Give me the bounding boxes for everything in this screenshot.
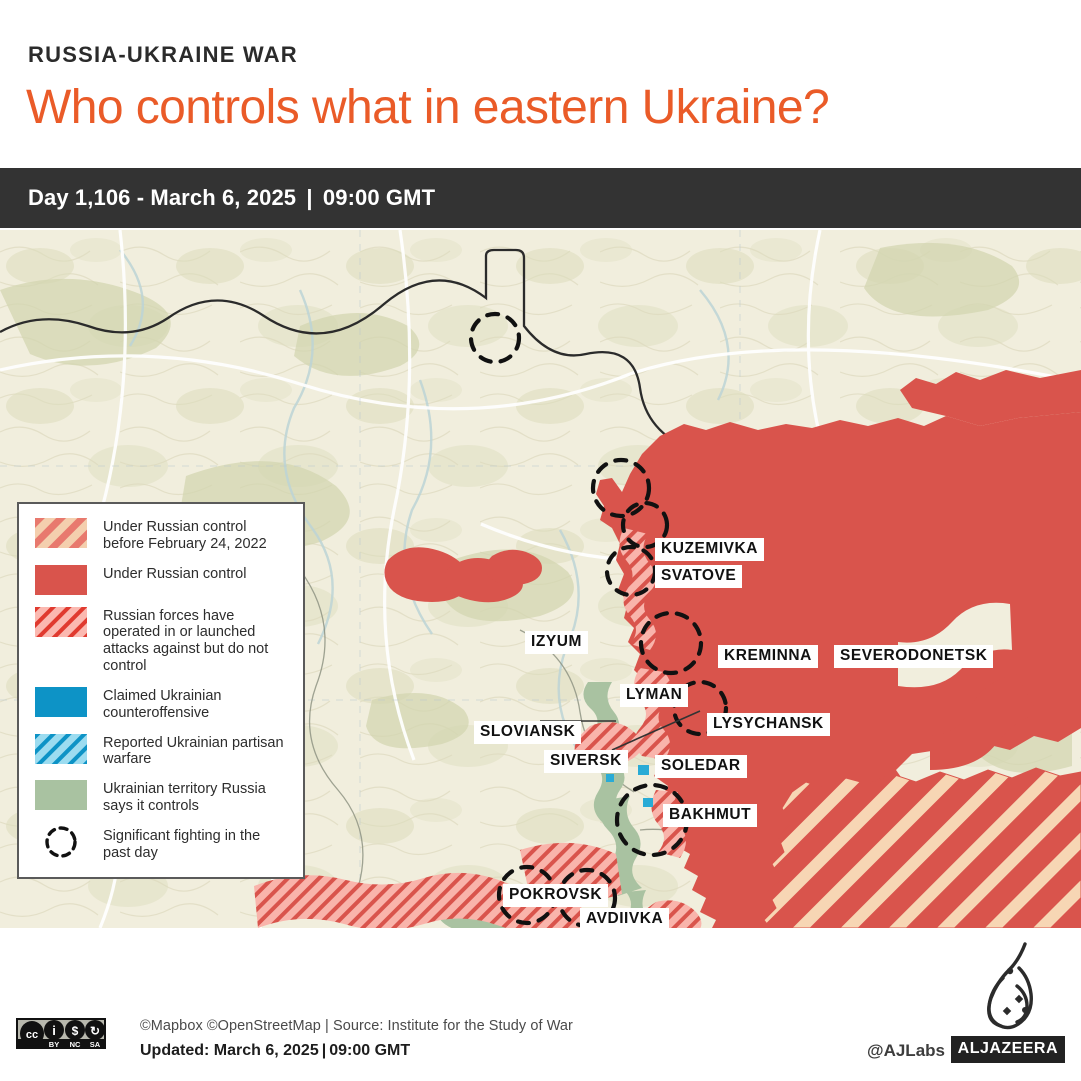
- infographic-root: RUSSIA-UKRAINE WAR Who controls what in …: [0, 0, 1081, 1081]
- svg-text:cc: cc: [26, 1029, 38, 1041]
- date-separator: |: [302, 185, 316, 210]
- legend-item-ukrainian-claimed: Ukrainian territory Russia says it contr…: [35, 780, 291, 815]
- date-time: 09:00 GMT: [323, 185, 435, 210]
- svg-text:SA: SA: [90, 1040, 101, 1049]
- legend-label-ukrainian-claimed: Ukrainian territory Russia says it contr…: [103, 780, 291, 815]
- legend-label-pre-2022: Under Russian control before February 24…: [103, 518, 291, 553]
- legend-label-partisan-warfare: Reported Ukrainian partisan warfare: [103, 734, 291, 769]
- legend-item-counteroffensive: Claimed Ukrainian counteroffensive: [35, 687, 291, 722]
- updated-date: Updated: March 6, 2025: [140, 1042, 319, 1059]
- legend-swatch-solid-blue: [35, 687, 87, 717]
- creative-commons-icon[interactable]: cc i $ ↻ BY NC SA: [16, 1018, 106, 1049]
- city-label-kreminna[interactable]: KREMINNA: [718, 645, 818, 668]
- city-label-sloviansk[interactable]: SLOVIANSK: [474, 721, 581, 744]
- kicker-label: RUSSIA-UKRAINE WAR: [28, 42, 298, 68]
- date-bar: Day 1,106 - March 6, 2025 | 09:00 GMT: [0, 168, 1081, 228]
- map-attribution: ©Mapbox ©OpenStreetMap | Source: Institu…: [140, 1018, 573, 1034]
- day-counter: Day 1,106 - March 6, 2025: [28, 185, 296, 210]
- legend-item-pre-2022: Under Russian control before February 24…: [35, 518, 291, 553]
- city-label-kuzemivka[interactable]: KUZEMIVKA: [655, 538, 764, 561]
- legend-swatch-solid-red: [35, 565, 87, 595]
- updated-separator: |: [319, 1042, 329, 1059]
- svg-text:BY: BY: [49, 1040, 59, 1049]
- svg-text:$: $: [72, 1024, 79, 1038]
- map-pre-2022-area: [764, 768, 1081, 928]
- legend-swatch-light-red-hatch: [35, 607, 87, 637]
- aljazeera-wordmark: ALJAZEERA: [951, 1036, 1065, 1063]
- city-label-lyman[interactable]: LYMAN: [620, 684, 688, 707]
- legend-swatch-pre-2022-hatch: [35, 518, 87, 548]
- legend-swatch-solid-green: [35, 780, 87, 810]
- city-label-siversk[interactable]: SIVERSK: [544, 750, 628, 773]
- legend-item-significant-fighting: Significant fighting in the past day: [35, 827, 291, 862]
- updated-time: 09:00 GMT: [329, 1042, 410, 1059]
- city-label-avdiivka[interactable]: AVDIIVKA: [580, 908, 669, 931]
- legend-swatch-light-blue-hatch: [35, 734, 87, 764]
- legend-label-operated-not-control: Russian forces have operated in or launc…: [103, 607, 291, 675]
- city-label-soledar[interactable]: SOLEDAR: [655, 755, 747, 778]
- city-label-lysychansk[interactable]: LYSYCHANSK: [707, 713, 830, 736]
- legend-item-russian-control: Under Russian control: [35, 565, 291, 595]
- legend-item-partisan-warfare: Reported Ukrainian partisan warfare: [35, 734, 291, 769]
- updated-timestamp: Updated: March 6, 2025|09:00 GMT: [140, 1042, 410, 1060]
- legend-panel: Under Russian control before February 24…: [17, 502, 305, 879]
- page-title: Who controls what in eastern Ukraine?: [26, 80, 829, 135]
- svg-text:↻: ↻: [90, 1024, 100, 1038]
- city-label-bakhmut[interactable]: BAKHMUT: [663, 804, 757, 827]
- city-label-pokrovsk[interactable]: POKROVSK: [503, 884, 608, 907]
- legend-label-russian-control: Under Russian control: [103, 565, 246, 583]
- city-label-severodonetsk[interactable]: SEVERODONETSK: [834, 645, 993, 668]
- legend-item-operated-not-control: Russian forces have operated in or launc…: [35, 607, 291, 675]
- aljazeera-logo-icon: [973, 938, 1051, 1035]
- city-label-svatove[interactable]: SVATOVE: [655, 565, 742, 588]
- svg-text:NC: NC: [70, 1040, 81, 1049]
- city-label-izyum[interactable]: IZYUM: [525, 631, 588, 654]
- legend-label-significant-fighting: Significant fighting in the past day: [103, 827, 291, 862]
- dashed-circle-icon: [35, 827, 87, 857]
- date-bar-text: Day 1,106 - March 6, 2025 | 09:00 GMT: [28, 168, 435, 228]
- ajlabs-handle[interactable]: @AJLabs: [867, 1041, 945, 1061]
- svg-text:i: i: [52, 1023, 56, 1038]
- legend-label-counteroffensive: Claimed Ukrainian counteroffensive: [103, 687, 291, 722]
